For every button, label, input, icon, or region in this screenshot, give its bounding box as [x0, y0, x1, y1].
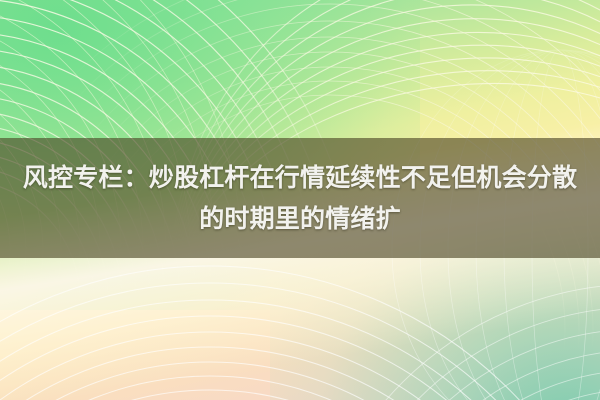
banner: 风控专栏：炒股杠杆在行情延续性不足但机会分散 的时期里的情绪扩 [0, 0, 600, 400]
headline-text: 风控专栏：炒股杠杆在行情延续性不足但机会分散 的时期里的情绪扩 [20, 157, 580, 239]
headline-band: 风控专栏：炒股杠杆在行情延续性不足但机会分散 的时期里的情绪扩 [0, 138, 600, 258]
